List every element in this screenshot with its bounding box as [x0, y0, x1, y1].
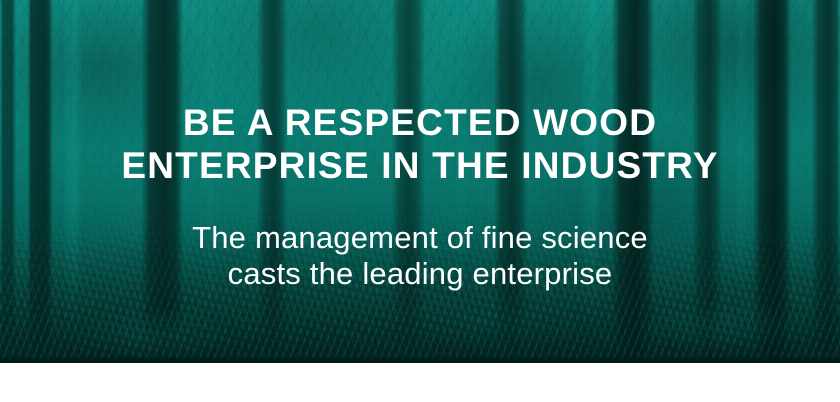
- bottom-white-band: [0, 363, 840, 402]
- hero-image: [0, 0, 840, 363]
- hero-banner: BE A RESPECTED WOOD ENTERPRISE IN THE IN…: [0, 0, 840, 402]
- teal-duotone-tint: [0, 0, 840, 363]
